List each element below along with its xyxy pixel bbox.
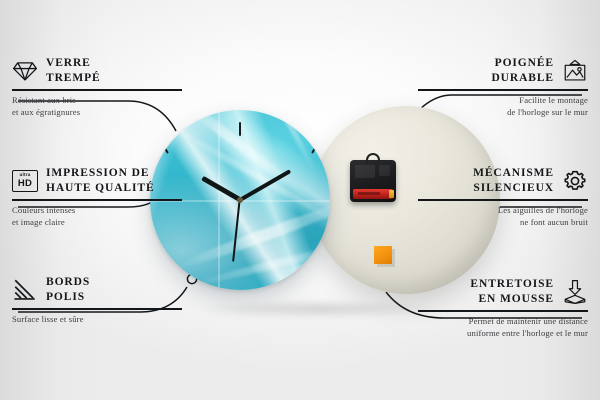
feature-title: VERRE TREMPÉ <box>46 56 101 85</box>
feature-title: IMPRESSION DE HAUTE QUALITÉ <box>46 166 155 195</box>
feature-divider <box>418 199 588 201</box>
feature-polished-edges: BORDS POLIS Surface lisse et sûre <box>12 275 182 326</box>
desc-line-2: et aux égratignures <box>12 107 80 117</box>
mechanism-emboss-left <box>355 165 375 178</box>
title-line-1: VERRE <box>46 57 91 69</box>
battery <box>353 189 393 199</box>
hour-hand <box>201 176 242 202</box>
title-line-2: TREMPÉ <box>46 72 101 84</box>
desc-line-2: uniforme entre l'horloge et le mur <box>467 328 588 338</box>
title-line-1: ENTRETOISE <box>470 278 554 290</box>
feature-silent-mechanism: MÉCANISME SILENCIEUX Les aiguilles de l'… <box>418 166 588 229</box>
gear-icon <box>562 168 588 194</box>
title-line-1: BORDS <box>46 276 90 288</box>
feature-description: Permet de maintenir une distance uniform… <box>418 316 588 340</box>
mechanism-emboss-right <box>379 165 390 176</box>
title-line-2: HAUTE QUALITÉ <box>46 182 155 194</box>
ultra-hd-icon-main-text: HD <box>18 179 32 189</box>
feature-divider <box>418 89 588 91</box>
hanger-loop-icon <box>366 153 380 163</box>
foam-spacer-pad <box>374 246 392 264</box>
feature-divider <box>12 89 182 91</box>
feature-high-quality-print: ultra HD IMPRESSION DE HAUTE QUALITÉ Cou… <box>12 166 182 229</box>
feature-durable-handle: POIGNÉE DURABLE Facilite le montage de l… <box>418 56 588 119</box>
desc-line-2: et image claire <box>12 217 65 227</box>
feature-title: BORDS POLIS <box>46 275 90 304</box>
desc-line-1: Facilite le montage <box>519 95 588 105</box>
title-line-1: IMPRESSION DE <box>46 167 149 179</box>
title-line-2: SILENCIEUX <box>473 182 554 194</box>
feature-title: MÉCANISME SILENCIEUX <box>473 166 554 195</box>
feature-description: Facilite le montage de l'horloge sur le … <box>418 95 588 119</box>
feature-description: Les aiguilles de l'horloge ne font aucun… <box>418 205 588 229</box>
ultra-hd-icon: ultra HD <box>12 170 38 192</box>
feature-head: ENTRETOISE EN MOUSSE <box>418 277 588 306</box>
feature-head: ultra HD IMPRESSION DE HAUTE QUALITÉ <box>12 166 182 195</box>
diamond-icon <box>12 58 38 84</box>
minute-hand <box>239 169 291 201</box>
infographic-canvas: VERRE TREMPÉ Résistant aux bris et aux é… <box>0 0 600 400</box>
feature-title: ENTRETOISE EN MOUSSE <box>470 277 554 306</box>
diagonal-lines-icon <box>12 277 38 303</box>
feature-divider <box>12 199 182 201</box>
title-line-2: EN MOUSSE <box>478 293 554 305</box>
feature-description: Couleurs intenses et image claire <box>12 205 182 229</box>
feature-head: VERRE TREMPÉ <box>12 56 182 85</box>
feature-description: Résistant aux bris et aux égratignures <box>12 95 182 119</box>
feature-head: MÉCANISME SILENCIEUX <box>418 166 588 195</box>
press-down-layers-icon <box>562 279 588 305</box>
desc-line-1: Les aiguilles de l'horloge <box>498 205 588 215</box>
title-line-2: POLIS <box>46 291 85 303</box>
second-hand <box>233 200 241 262</box>
desc-line-1: Permet de maintenir une distance <box>469 316 588 326</box>
title-line-1: POIGNÉE <box>495 57 554 69</box>
title-line-1: MÉCANISME <box>473 167 554 179</box>
title-line-2: DURABLE <box>491 72 554 84</box>
feature-divider <box>12 308 182 310</box>
tick-1 <box>311 142 319 153</box>
desc-line-1: Surface lisse et sûre <box>12 314 84 324</box>
desc-line-1: Couleurs intenses <box>12 205 75 215</box>
tick-12 <box>239 122 242 136</box>
battery-positive-tip <box>389 190 394 198</box>
feature-divider <box>418 310 588 312</box>
hand-center-cap <box>237 197 243 203</box>
feature-title: POIGNÉE DURABLE <box>491 56 554 85</box>
feature-head: BORDS POLIS <box>12 275 182 304</box>
battery-label-stripe <box>358 192 380 195</box>
feature-foam-spacer: ENTRETOISE EN MOUSSE Permet de maintenir… <box>418 277 588 340</box>
feature-head: POIGNÉE DURABLE <box>418 56 588 85</box>
desc-line-2: de l'horloge sur le mur <box>507 107 588 117</box>
feature-description: Surface lisse et sûre <box>12 314 182 326</box>
hanging-picture-icon <box>562 58 588 84</box>
tick-11 <box>161 142 169 153</box>
clock-mechanism <box>350 160 396 202</box>
desc-line-1: Résistant aux bris <box>12 95 76 105</box>
desc-line-2: ne font aucun bruit <box>520 217 588 227</box>
feature-tempered-glass: VERRE TREMPÉ Résistant aux bris et aux é… <box>12 56 182 119</box>
